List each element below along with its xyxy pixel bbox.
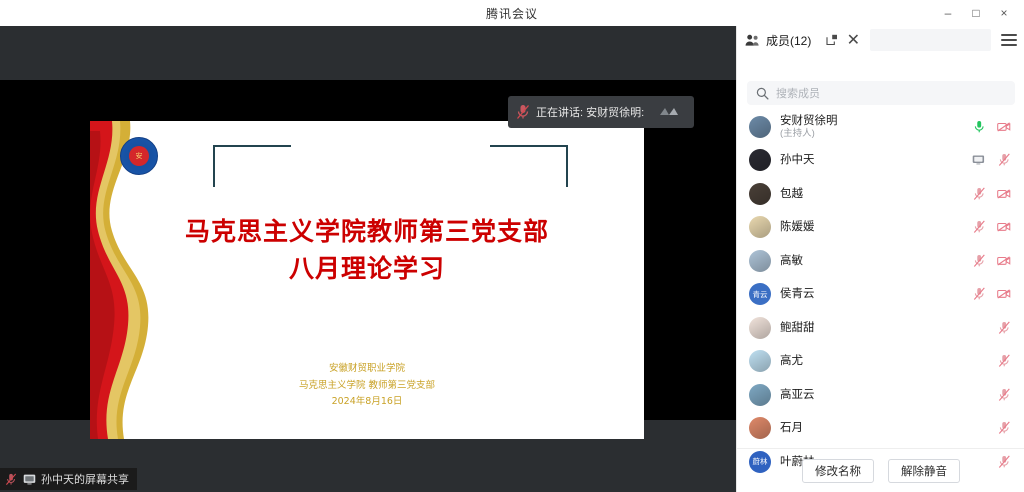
avatar: 青云 [749, 283, 771, 305]
participant-name: 包越 [780, 187, 803, 201]
presentation-slide: 安 马克思主义学院教师第三党支部 八月理论学习 安徽财贸职业学院 马克思主义学院… [90, 121, 644, 439]
participant-status-icons [972, 153, 1011, 167]
share-status-bar: 孙中天的屏幕共享 [0, 466, 736, 492]
status-icon-slot[interactable] [972, 153, 986, 167]
participant-row[interactable]: 青云侯青云 [737, 278, 1024, 312]
participant-status-icons [972, 287, 1011, 301]
participant-status-icons [997, 354, 1011, 368]
popout-icon[interactable] [825, 33, 839, 47]
participant-name-wrap: 安财贸徐明(主持人) [780, 114, 838, 140]
avatar [749, 216, 771, 238]
avatar [749, 250, 771, 272]
search-placeholder: 搜索成员 [776, 85, 820, 101]
avatar [749, 384, 771, 406]
microphone-muted-icon[interactable] [998, 354, 1011, 368]
participant-name-wrap: 石月 [780, 421, 803, 435]
slide-subtitle-line-2: 马克思主义学院 教师第三党支部 [90, 378, 644, 395]
avatar [749, 317, 771, 339]
participant-status-icons [972, 187, 1011, 201]
search-icon [756, 87, 769, 100]
participant-name-wrap: 高亚云 [780, 388, 815, 402]
participant-row[interactable]: 高尤 [737, 345, 1024, 379]
status-icon-slot[interactable] [997, 187, 1011, 201]
close-icon[interactable]: × [990, 1, 1018, 25]
participant-name-wrap: 陈媛媛 [780, 220, 815, 234]
slide-title-line-2: 八月理论学习 [90, 250, 644, 287]
microphone-muted-icon[interactable] [973, 254, 986, 268]
emblem-inner: 安 [129, 146, 149, 166]
participant-role: (主持人) [780, 128, 838, 140]
avatar [749, 417, 771, 439]
participant-name: 陈媛媛 [780, 220, 815, 234]
participants-panel-title: 成员(12) [766, 32, 811, 49]
participant-row[interactable]: 孙中天 [737, 144, 1024, 178]
avatar [749, 116, 771, 138]
participants-panel-header: 成员(12) ✕ [737, 26, 1024, 54]
unmute-button[interactable]: 解除静音 [888, 459, 960, 483]
slide-subtitle-line-1: 安徽财贸职业学院 [90, 361, 644, 378]
participant-name: 石月 [780, 421, 803, 435]
participant-row[interactable]: 高亚云 [737, 378, 1024, 412]
minimize-icon[interactable]: – [934, 1, 962, 25]
participants-panel-footer: 修改名称 解除静音 [737, 448, 1024, 492]
participant-name-wrap: 高尤 [780, 354, 803, 368]
slide-title: 马克思主义学院教师第三党支部 八月理论学习 [90, 213, 644, 287]
status-icon-slot[interactable] [972, 220, 986, 234]
participant-row[interactable]: 石月 [737, 412, 1024, 446]
status-icon-slot[interactable] [997, 421, 1011, 435]
status-icon-slot[interactable] [997, 388, 1011, 402]
participant-status-icons [972, 120, 1011, 134]
microphone-icon [516, 104, 530, 120]
slide-subtitle-line-3: 2024年8月16日 [90, 394, 644, 411]
participant-name: 高敏 [780, 254, 803, 268]
avatar [749, 183, 771, 205]
status-icon-slot[interactable] [997, 287, 1011, 301]
speaking-label: 正在讲话: 安财贸徐明: [536, 104, 644, 120]
participant-status-icons [972, 220, 1011, 234]
rename-button[interactable]: 修改名称 [802, 459, 874, 483]
corner-bracket-right [490, 145, 568, 187]
status-icon-slot[interactable] [997, 220, 1011, 234]
status-icon-slot[interactable] [997, 153, 1011, 167]
camera-off-icon[interactable] [997, 121, 1011, 133]
avatar [749, 350, 771, 372]
app-title: 腾讯会议 [486, 5, 538, 22]
search-members-input[interactable]: 搜索成员 [747, 81, 1015, 105]
panel-menu-icon[interactable] [1001, 33, 1017, 47]
microphone-on-icon[interactable] [973, 120, 986, 134]
participant-name: 高亚云 [780, 388, 815, 402]
maximize-icon[interactable]: □ [962, 1, 990, 25]
microphone-muted-icon [5, 473, 18, 486]
members-icon [745, 33, 760, 47]
status-icon-slot[interactable] [972, 287, 986, 301]
microphone-muted-icon[interactable] [998, 421, 1011, 435]
share-owner-label: 孙中天的屏幕共享 [41, 471, 129, 487]
participant-row[interactable]: 安财贸徐明(主持人) [737, 110, 1024, 144]
participant-name-wrap: 高敏 [780, 254, 803, 268]
audio-wave-icon [656, 104, 686, 120]
meeting-window: 腾讯会议 – □ × 安 [0, 0, 1024, 492]
microphone-muted-icon[interactable] [998, 388, 1011, 402]
status-icon-slot[interactable] [997, 254, 1011, 268]
microphone-muted-icon[interactable] [998, 321, 1011, 335]
camera-off-icon[interactable] [997, 188, 1011, 200]
participant-name-wrap: 鲍甜甜 [780, 321, 815, 335]
participant-row[interactable]: 陈媛媛 [737, 211, 1024, 245]
participant-name: 孙中天 [780, 153, 815, 167]
camera-off-icon[interactable] [997, 288, 1011, 300]
status-icon-slot[interactable] [972, 120, 986, 134]
participant-status-icons [972, 254, 1011, 268]
meeting-stage: 安 马克思主义学院教师第三党支部 八月理论学习 安徽财贸职业学院 马克思主义学院… [0, 26, 736, 492]
participant-status-icons [997, 388, 1011, 402]
microphone-muted-icon[interactable] [973, 287, 986, 301]
participant-name-wrap: 孙中天 [780, 153, 815, 167]
status-icon-slot[interactable] [997, 321, 1011, 335]
status-icon-slot[interactable] [997, 120, 1011, 134]
microphone-muted-icon[interactable] [973, 187, 986, 201]
status-icon-slot[interactable] [972, 187, 986, 201]
participant-status-icons [997, 421, 1011, 435]
participant-name-wrap: 包越 [780, 187, 803, 201]
panel-header-icons: ✕ [825, 33, 860, 47]
corner-bracket-left [213, 145, 291, 187]
camera-off-icon[interactable] [997, 221, 1011, 233]
participant-name: 鲍甜甜 [780, 321, 815, 335]
window-controls: – □ × [934, 0, 1018, 26]
participant-row[interactable]: 包越 [737, 177, 1024, 211]
participant-name: 侯青云 [780, 287, 815, 301]
participant-status-icons [997, 321, 1011, 335]
participants-list[interactable]: 安财贸徐明(主持人)孙中天包越陈媛媛高敏青云侯青云鲍甜甜高尤高亚云石月蔚林叶蔚林 [737, 110, 1024, 476]
status-icon-slot[interactable] [997, 354, 1011, 368]
participants-panel: 成员(12) ✕ 搜索成员 安财贸徐明(主持人 [736, 26, 1024, 492]
participant-name-wrap: 侯青云 [780, 287, 815, 301]
participant-name: 安财贸徐明 [780, 114, 838, 128]
screen-share-icon [23, 474, 36, 485]
participant-row[interactable]: 高敏 [737, 244, 1024, 278]
slide-title-line-1: 马克思主义学院教师第三党支部 [90, 213, 644, 250]
school-emblem-logo: 安 [120, 137, 158, 175]
screen-share-icon[interactable] [972, 154, 986, 166]
status-icon-slot[interactable] [972, 254, 986, 268]
panel-header-spacer [870, 29, 991, 51]
microphone-muted-icon[interactable] [973, 220, 986, 234]
avatar [749, 149, 771, 171]
close-panel-icon[interactable]: ✕ [846, 33, 860, 47]
participant-row[interactable]: 鲍甜甜 [737, 311, 1024, 345]
camera-off-icon[interactable] [997, 255, 1011, 267]
screen-share-chip[interactable]: 孙中天的屏幕共享 [0, 468, 137, 490]
window-title-bar: 腾讯会议 – □ × [0, 0, 1024, 26]
active-speaker-indicator: 正在讲话: 安财贸徐明: [508, 96, 694, 128]
slide-subtitle: 安徽财贸职业学院 马克思主义学院 教师第三党支部 2024年8月16日 [90, 361, 644, 411]
stage-inner: 安 马克思主义学院教师第三党支部 八月理论学习 安徽财贸职业学院 马克思主义学院… [0, 26, 736, 466]
microphone-muted-icon[interactable] [998, 153, 1011, 167]
participant-name: 高尤 [780, 354, 803, 368]
